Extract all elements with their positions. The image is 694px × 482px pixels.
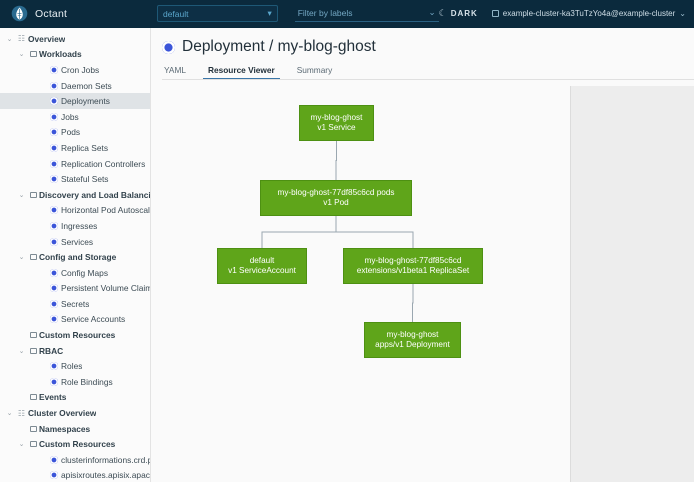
- graph-edge: [336, 141, 337, 180]
- resource-icon: [47, 82, 61, 90]
- graph-node-name: my-blog-ghost: [387, 330, 439, 341]
- folder-icon: [27, 441, 39, 447]
- octant-app: Octant default ▾ Filter by labels ⌄ ☾ DA…: [0, 0, 694, 482]
- folder-icon: [27, 51, 39, 57]
- sidebar-item-stateful-sets[interactable]: Stateful Sets: [0, 171, 150, 187]
- resource-graph-edges: [151, 86, 570, 482]
- resource-icon: [47, 144, 61, 152]
- sidebar-item-replica-sets[interactable]: Replica Sets: [0, 140, 150, 156]
- chevron-down-icon: ⌄: [679, 9, 686, 18]
- sidebar-item-label: Horizontal Pod Autoscalers: [61, 205, 150, 215]
- graph-edge: [336, 216, 413, 248]
- folder-icon: [27, 348, 39, 354]
- graph-node-name: my-blog-ghost: [311, 113, 363, 124]
- sidebar-item-persistent-volume-claims[interactable]: Persistent Volume Claims: [0, 281, 150, 297]
- tab-yaml[interactable]: YAML: [162, 65, 197, 80]
- sidebar-item-label: Custom Resources: [39, 330, 115, 340]
- sidebar-item-label: Secrets: [61, 299, 89, 309]
- resource-icon: [47, 238, 61, 246]
- chevron-down-icon[interactable]: ⌄: [4, 409, 15, 417]
- sidebar-item-label: Roles: [61, 361, 82, 371]
- sidebar-item-clusterinformations-crd-projec[interactable]: clusterinformations.crd.projec: [0, 452, 150, 468]
- folder-icon: [27, 426, 39, 432]
- resource-icon: [47, 315, 61, 323]
- resource-icon: [47, 128, 61, 136]
- tab-summary[interactable]: Summary: [286, 65, 344, 80]
- graph-node-pod[interactable]: my-blog-ghost-77df85c6cd podsv1 Pod: [260, 180, 412, 216]
- sidebar-item-label: clusterinformations.crd.projec: [61, 455, 150, 465]
- sidebar-item-label: Service Accounts: [61, 314, 125, 324]
- chevron-down-icon[interactable]: ⌄: [4, 35, 15, 43]
- sidebar-item-events[interactable]: Events: [0, 390, 150, 406]
- header-right-group: ☾ DARK example-cluster-ka3TuTzYo4a@examp…: [439, 8, 694, 19]
- label-filter[interactable]: Filter by labels ⌄: [295, 5, 439, 22]
- sidebar-item-label: Namespaces: [39, 424, 90, 434]
- sidebar-item-label: Events: [39, 392, 66, 402]
- resource-detail-panel: [570, 86, 694, 482]
- sidebar-item-label: apisixroutes.apisix.apache.org: [61, 470, 150, 480]
- sidebar-item-cron-jobs[interactable]: Cron Jobs: [0, 62, 150, 78]
- sidebar-item-services[interactable]: Services: [0, 234, 150, 250]
- sidebar-item-label: Cluster Overview: [28, 408, 96, 418]
- folder-icon: [27, 332, 39, 338]
- graph-node-kind: v1 Service: [317, 123, 355, 134]
- resource-icon: [47, 471, 61, 479]
- sidebar-item-replication-controllers[interactable]: Replication Controllers: [0, 156, 150, 172]
- graph-node-kind: v1 Pod: [323, 198, 349, 209]
- resource-icon: [47, 456, 61, 464]
- cluster-context-select[interactable]: example-cluster-ka3TuTzYo4a@example-clus…: [492, 9, 686, 18]
- resource-icon: [47, 378, 61, 386]
- sidebar-item-label: Stateful Sets: [61, 174, 109, 184]
- sidebar-item-jobs[interactable]: Jobs: [0, 109, 150, 125]
- sidebar-item-rbac[interactable]: ⌄RBAC: [0, 343, 150, 359]
- graph-node-kind: extensions/v1beta1 ReplicaSet: [357, 266, 469, 277]
- chevron-down-icon[interactable]: ⌄: [16, 347, 27, 355]
- cluster-icon: [492, 10, 499, 17]
- sidebar-item-label: Replica Sets: [61, 143, 108, 153]
- graph-node-name: default: [250, 256, 275, 267]
- sidebar-item-namespaces[interactable]: Namespaces: [0, 421, 150, 437]
- sidebar-item-config-maps[interactable]: Config Maps: [0, 265, 150, 281]
- graph-edge: [413, 284, 414, 322]
- namespace-select-value: default: [163, 9, 189, 19]
- dark-mode-label: DARK: [451, 9, 478, 18]
- sidebar-item-label: Services: [61, 237, 93, 247]
- sidebar-item-label: RBAC: [39, 346, 63, 356]
- sidebar-item-label: Ingresses: [61, 221, 97, 231]
- sidebar-item-label: Overview: [28, 34, 65, 44]
- sidebar-item-label: Custom Resources: [39, 439, 115, 449]
- tab-underline: [162, 79, 694, 80]
- graph-node-name: my-blog-ghost-77df85c6cd: [365, 256, 462, 267]
- sidebar-item-custom-resources[interactable]: Custom Resources: [0, 327, 150, 343]
- folder-icon: [27, 192, 39, 198]
- resource-icon: [47, 300, 61, 308]
- folder-icon: [27, 394, 39, 400]
- sidebar-item-label: Replication Controllers: [61, 159, 145, 169]
- tab-bar[interactable]: YAMLResource ViewerSummary: [151, 56, 694, 80]
- sidebar-item-deployments[interactable]: Deployments: [0, 93, 150, 109]
- resource-icon: [47, 66, 61, 74]
- chevron-down-icon[interactable]: ⌄: [16, 440, 27, 448]
- label-filter-placeholder: Filter by labels: [298, 8, 353, 18]
- page-title: Deployment / my-blog-ghost: [182, 38, 376, 56]
- page-title-row: Deployment / my-blog-ghost: [151, 28, 694, 56]
- sidebar-item-role-bindings[interactable]: Role Bindings: [0, 374, 150, 390]
- sidebar-item-pods[interactable]: Pods: [0, 125, 150, 141]
- resource-icon: [47, 222, 61, 230]
- graph-node-kind: v1 ServiceAccount: [228, 266, 296, 277]
- tab-resource-viewer[interactable]: Resource Viewer: [197, 65, 286, 80]
- graph-node-serviceaccount[interactable]: defaultv1 ServiceAccount: [217, 248, 307, 284]
- sidebar-item-label: Role Bindings: [61, 377, 113, 387]
- sidebar-item-label: Daemon Sets: [61, 81, 112, 91]
- sidebar-item-label: Config and Storage: [39, 252, 116, 262]
- sidebar-item-cluster-overview[interactable]: ⌄☷Cluster Overview: [0, 405, 150, 421]
- sidebar-item-label: Jobs: [61, 112, 79, 122]
- octant-logo-icon: [11, 5, 28, 22]
- main-content: Deployment / my-blog-ghost YAMLResource …: [151, 28, 694, 482]
- resource-icon: [47, 160, 61, 168]
- overview-icon: ☷: [15, 409, 28, 418]
- sidebar-item-workloads[interactable]: ⌄Workloads: [0, 47, 150, 63]
- sidebar-item-label: Pods: [61, 127, 80, 137]
- sidebar-item-label: Deployments: [61, 96, 110, 106]
- sidebar-item-roles[interactable]: Roles: [0, 358, 150, 374]
- chevron-down-icon[interactable]: ⌄: [16, 191, 27, 199]
- sidebar-item-label: Cron Jobs: [61, 65, 99, 75]
- chevron-down-icon[interactable]: ⌄: [16, 253, 27, 261]
- resource-icon: [47, 362, 61, 370]
- sidebar-item-config-and-storage[interactable]: ⌄Config and Storage: [0, 249, 150, 265]
- resource-graph[interactable]: my-blog-ghostv1 Servicemy-blog-ghost-77d…: [151, 86, 570, 482]
- sidebar-item-overview[interactable]: ⌄☷Overview: [0, 31, 150, 47]
- sidebar-item-ingresses[interactable]: Ingresses: [0, 218, 150, 234]
- deployment-icon: [162, 41, 175, 54]
- sidebar-item-label: Workloads: [39, 49, 82, 59]
- sidebar-item-horizontal-pod-autoscalers[interactable]: Horizontal Pod Autoscalers: [0, 203, 150, 219]
- resource-icon: [47, 206, 61, 214]
- app-header: Octant default ▾ Filter by labels ⌄ ☾ DA…: [0, 0, 694, 28]
- brand-name: Octant: [35, 8, 67, 20]
- chevron-down-icon[interactable]: ⌄: [16, 50, 27, 58]
- graph-edge: [262, 216, 336, 248]
- sidebar-item-label: Discovery and Load Balancing: [39, 190, 150, 200]
- namespace-select[interactable]: default ▾: [157, 5, 278, 22]
- dark-mode-toggle[interactable]: ☾ DARK: [439, 8, 478, 19]
- sidebar-item-label: Persistent Volume Claims: [61, 283, 150, 293]
- resource-icon: [47, 269, 61, 277]
- graph-node-name: my-blog-ghost-77df85c6cd pods: [278, 188, 395, 199]
- sidebar-item-service-accounts[interactable]: Service Accounts: [0, 312, 150, 328]
- sidebar-item-discovery-and-load-balancing[interactable]: ⌄Discovery and Load Balancing: [0, 187, 150, 203]
- moon-icon: ☾: [439, 8, 447, 19]
- folder-icon: [27, 254, 39, 260]
- sidebar-item-daemon-sets[interactable]: Daemon Sets: [0, 78, 150, 94]
- resource-icon: [47, 97, 61, 105]
- resource-icon: [47, 284, 61, 292]
- resource-icon: [47, 113, 61, 121]
- chevron-down-icon: ▾: [267, 9, 271, 18]
- overview-icon: ☷: [15, 34, 28, 43]
- sidebar-item-secrets[interactable]: Secrets: [0, 296, 150, 312]
- brand[interactable]: Octant: [0, 5, 146, 22]
- graph-node-service[interactable]: my-blog-ghostv1 Service: [299, 105, 374, 141]
- cluster-context-value: example-cluster-ka3TuTzYo4a@example-clus…: [503, 9, 676, 18]
- chevron-down-icon: ⌄: [428, 8, 435, 17]
- sidebar-item-apisixroutes-apisix-apache-org[interactable]: apisixroutes.apisix.apache.org: [0, 468, 150, 482]
- resource-icon: [47, 175, 61, 183]
- sidebar-item-label: Config Maps: [61, 268, 108, 278]
- graph-node-kind: apps/v1 Deployment: [375, 340, 450, 351]
- graph-node-deployment[interactable]: my-blog-ghostapps/v1 Deployment: [364, 322, 461, 358]
- graph-node-replicaset[interactable]: my-blog-ghost-77df85c6cdextensions/v1bet…: [343, 248, 483, 284]
- sidebar-nav[interactable]: ⌄☷Overview⌄WorkloadsCron JobsDaemon Sets…: [0, 28, 151, 482]
- sidebar-item-custom-resources[interactable]: ⌄Custom Resources: [0, 436, 150, 452]
